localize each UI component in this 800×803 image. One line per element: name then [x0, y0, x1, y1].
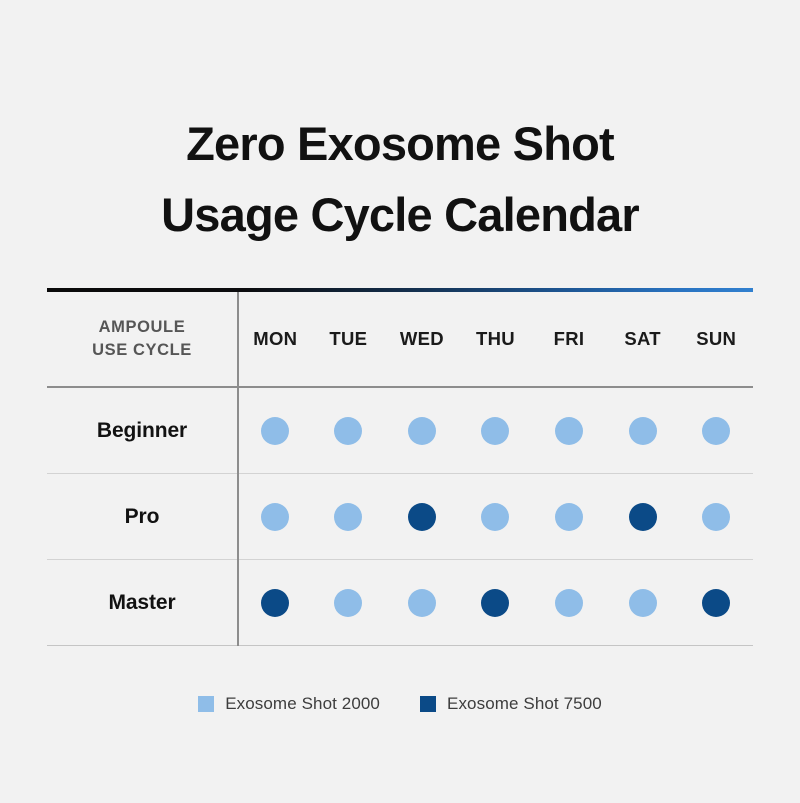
cell-master-sun [679, 560, 753, 646]
dose-dot-2000 [261, 417, 289, 445]
row-label-master: Master [47, 560, 238, 646]
dose-dot-2000 [629, 417, 657, 445]
day-header-mon: MON [238, 292, 312, 387]
dose-dot-2000 [261, 503, 289, 531]
legend-label-7500: Exosome Shot 7500 [447, 694, 602, 714]
cell-beginner-wed [385, 387, 459, 474]
dose-dot-2000 [481, 417, 509, 445]
legend-label-2000: Exosome Shot 2000 [225, 694, 380, 714]
corner-header-line-1: AMPOULE [47, 316, 237, 339]
cell-pro-sun [679, 474, 753, 560]
day-header-sun: SUN [679, 292, 753, 387]
cell-master-sat [606, 560, 680, 646]
page-title: Zero Exosome Shot Usage Cycle Calendar [0, 108, 800, 251]
dose-dot-7500 [481, 589, 509, 617]
dose-dot-7500 [408, 503, 436, 531]
legend-item-exosome-shot-7500: Exosome Shot 7500 [420, 694, 602, 714]
dose-dot-2000 [481, 503, 509, 531]
cell-pro-fri [532, 474, 606, 560]
calendar-infographic: Zero Exosome Shot Usage Cycle Calendar A… [0, 0, 800, 803]
cell-pro-sat [606, 474, 680, 560]
legend-item-exosome-shot-2000: Exosome Shot 2000 [198, 694, 380, 714]
table-body: Beginner Pro [47, 387, 753, 646]
day-header-tue: TUE [312, 292, 386, 387]
legend: Exosome Shot 2000 Exosome Shot 7500 [0, 694, 800, 714]
table-row: Pro [47, 474, 753, 560]
cell-pro-mon [238, 474, 312, 560]
dose-dot-2000 [555, 589, 583, 617]
cell-pro-wed [385, 474, 459, 560]
day-header-thu: THU [459, 292, 533, 387]
cell-pro-tue [312, 474, 386, 560]
cell-beginner-thu [459, 387, 533, 474]
cell-master-wed [385, 560, 459, 646]
dose-dot-7500 [629, 503, 657, 531]
cell-beginner-tue [312, 387, 386, 474]
cell-master-thu [459, 560, 533, 646]
cell-master-fri [532, 560, 606, 646]
cell-master-mon [238, 560, 312, 646]
corner-header-ampoule-use-cycle: AMPOULE USE CYCLE [47, 292, 238, 387]
day-header-sat: SAT [606, 292, 680, 387]
page-title-line-1: Zero Exosome Shot [0, 108, 800, 179]
dose-dot-2000 [702, 503, 730, 531]
cell-beginner-mon [238, 387, 312, 474]
cell-pro-thu [459, 474, 533, 560]
cell-beginner-sun [679, 387, 753, 474]
page-title-line-2: Usage Cycle Calendar [0, 179, 800, 250]
dose-dot-2000 [334, 417, 362, 445]
dose-dot-7500 [702, 589, 730, 617]
legend-swatch-icon-7500 [420, 696, 436, 712]
row-label-beginner: Beginner [47, 387, 238, 474]
cell-master-tue [312, 560, 386, 646]
table-row: Master [47, 560, 753, 646]
corner-header-line-2: USE CYCLE [47, 339, 237, 362]
row-label-pro: Pro [47, 474, 238, 560]
day-header-wed: WED [385, 292, 459, 387]
cell-beginner-sat [606, 387, 680, 474]
table-row: Beginner [47, 387, 753, 474]
dose-dot-2000 [629, 589, 657, 617]
usage-cycle-table: AMPOULE USE CYCLE MON TUE WED THU FRI SA… [47, 288, 753, 646]
dose-dot-2000 [555, 503, 583, 531]
dose-dot-2000 [408, 417, 436, 445]
dose-dot-2000 [334, 503, 362, 531]
dose-dot-2000 [408, 589, 436, 617]
dose-dot-7500 [261, 589, 289, 617]
dose-dot-2000 [334, 589, 362, 617]
dose-dot-2000 [702, 417, 730, 445]
cell-beginner-fri [532, 387, 606, 474]
legend-swatch-icon-2000 [198, 696, 214, 712]
table-header-row: AMPOULE USE CYCLE MON TUE WED THU FRI SA… [47, 292, 753, 387]
day-header-fri: FRI [532, 292, 606, 387]
dose-dot-2000 [555, 417, 583, 445]
